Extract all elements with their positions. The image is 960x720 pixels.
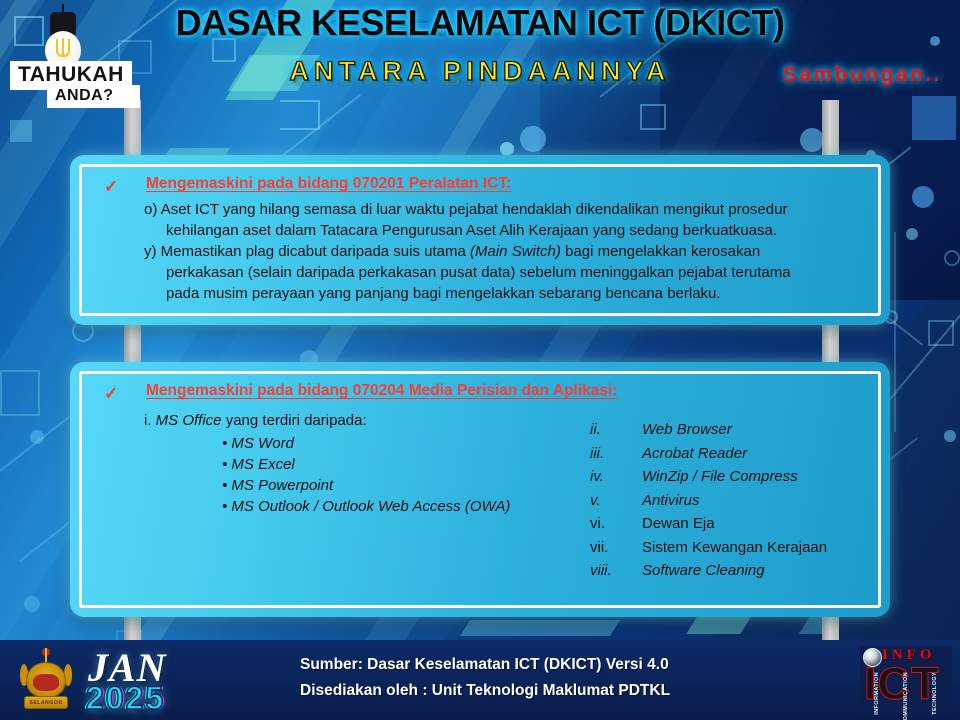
bullet-label-4: MS Outlook / Outlook Web Access (OWA) [231,498,510,515]
panel1-main-switch-italic: (Main Switch) [470,243,561,260]
check-mark-icon: ✓ [104,384,118,404]
panel1-line-2: kehilangan aset dalam Tatacara Pengurusa… [144,220,864,241]
roman-num-v: v. [590,489,642,513]
roman-num-vi: vi. [590,512,642,536]
roman-text-vii: Sistem Kewangan Kerajaan [642,536,827,560]
list-item: • MS Excel [222,454,574,475]
panel1-line-5-text: pada musim perayaan yang panjang bagi me… [166,285,721,302]
panel1-line-4-text: perkakasan (selain daripada perkakasan p… [166,264,791,281]
panel2-heading: Mengemaskini pada bidang 070204 Media Pe… [146,382,617,400]
tahukah-anda-badge: TAHUKAH ANDA? [4,4,149,109]
panel1-line-1-text: Aset ICT yang hilang semasa di luar wakt… [161,201,788,218]
roman-num-iii: iii. [590,442,642,466]
roman-text-viii: Software Cleaning [642,559,765,583]
roman-num-vii: vii. [590,536,642,560]
roman-num-viii: viii. [590,559,642,583]
panel1-line-3-tail: bagi mengelakkan kerosakan [561,243,760,260]
list-item: • MS Word [222,433,574,454]
panel-peralatan-ict: ✓ Mengemaskini pada bidang 070201 Perala… [70,155,890,325]
check-mark-icon: ✓ [104,177,118,197]
panel1-line-1: o) Aset ICT yang hilang semasa di luar w… [144,199,864,220]
crest-center-icon [33,674,59,691]
crest-ribbon: SELANGOR [24,696,68,709]
logo-vertical-technology: TECHNOLOGY [932,672,938,715]
list-item: vi. Dewan Eja [590,512,910,536]
panel1-line-5: pada musim perayaan yang panjang bagi me… [144,283,864,304]
panel-media-perisian: ✓ Mengemaskini pada bidang 070204 Media … [70,362,890,617]
panel2-right-column: ii. Web Browser iii. Acrobat Reader iv. … [590,418,910,583]
logo-vertical-communication: COMMUNICATION [903,672,909,720]
roman-text-v: Antivirus [642,489,700,513]
panel2-item-i-num: i. [144,412,152,429]
list-item: v. Antivirus [590,489,910,513]
logo-vertical-information: INFORMATION [874,672,880,715]
panel2-item-i: i. MS Office yang terdiri daripada: [144,410,574,431]
lightbulb-filament-stem-icon [62,38,64,56]
roman-text-ii: Web Browser [642,418,732,442]
panel1-line-2-text: kehilangan aset dalam Tatacara Pengurusa… [166,222,777,239]
footer-year: 2025 [86,680,165,717]
panel2-inner-frame: ✓ Mengemaskini pada bidang 070204 Media … [79,371,881,608]
roman-text-iv: WinZip / File Compress [642,465,798,489]
bullet-label-2: MS Excel [231,456,294,473]
roman-num-iv: iv. [590,465,642,489]
bullet-label-3: MS Powerpoint [231,477,333,494]
panel1-line-4: perkakasan (selain daripada perkakasan p… [144,262,864,283]
panel2-ms-office-label: MS Office [156,412,222,429]
info-ict-logo: INFO ICT INFORMATION COMMUNICATION TECHN… [860,646,952,716]
footer-line-2: Disediakan oleh : Unit Teknologi Makluma… [300,678,670,704]
panel2-item-i-rest: yang terdiri daripada: [226,412,367,429]
roman-num-ii: ii. [590,418,642,442]
continuation-label: Sambungan.. [783,63,942,87]
list-item: viii. Software Cleaning [590,559,910,583]
footer-line-1: Sumber: Dasar Keselamatan ICT (DKICT) Ve… [300,652,670,678]
panel1-line-1-label: o) [144,201,157,218]
panel1-heading: Mengemaskini pada bidang 070201 Peralata… [146,175,511,193]
list-item: ii. Web Browser [590,418,910,442]
roman-text-iii: Acrobat Reader [642,442,747,466]
footer-source-block: Sumber: Dasar Keselamatan ICT (DKICT) Ve… [300,652,670,704]
panel1-body: o) Aset ICT yang hilang semasa di luar w… [144,199,864,304]
selangor-crest-icon: SELANGOR [18,648,74,714]
panel2-left-column: i. MS Office yang terdiri daripada: • MS… [144,410,574,517]
footer-bar: SELANGOR JAN 2025 Sumber: Dasar Keselama… [0,640,960,720]
list-item: iv. WinZip / File Compress [590,465,910,489]
panel1-inner-frame: ✓ Mengemaskini pada bidang 070201 Perala… [79,164,881,316]
panel1-line-3-label: y) Memastikan plag dicabut daripada suis… [144,243,470,260]
roman-text-vi: Dewan Eja [642,512,715,536]
list-item: • MS Outlook / Outlook Web Access (OWA) [222,496,574,517]
bullet-label-1: MS Word [231,435,294,452]
badge-line-2: ANDA? [47,85,140,108]
list-item: • MS Powerpoint [222,475,574,496]
list-item: iii. Acrobat Reader [590,442,910,466]
panel1-line-3: y) Memastikan plag dicabut daripada suis… [144,241,864,262]
list-item: vii. Sistem Kewangan Kerajaan [590,536,910,560]
panel2-bullet-list: • MS Word • MS Excel • MS Powerpoint • M… [144,433,574,517]
slide-canvas: DASAR KESELAMATAN ICT (DKICT) DASAR KESE… [0,0,960,720]
